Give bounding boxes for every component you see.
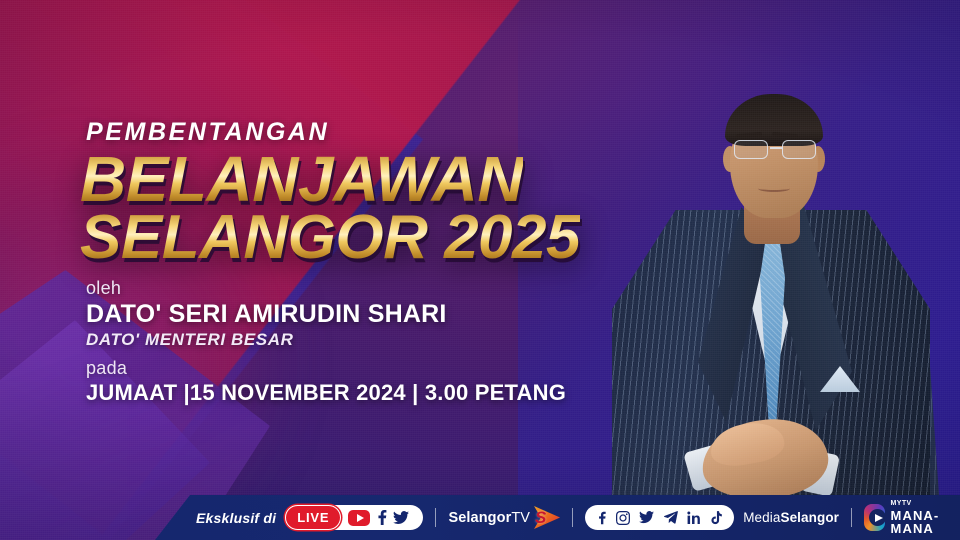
speaker-block: oleh DATO' SERI AMIRUDIN SHARI DATO' MEN… (86, 278, 447, 350)
speaker-name: DATO' SERI AMIRUDIN SHARI (86, 300, 447, 329)
title-line-2: SELANGOR 2025 (80, 202, 580, 273)
twitter-icon[interactable] (639, 511, 654, 524)
mediaselangor-logo[interactable]: MediaSelangor (743, 510, 839, 525)
mytv-small-text: MYTV (891, 500, 960, 507)
live-badge[interactable]: LIVE (285, 505, 341, 530)
selangortv-light: TV (511, 510, 530, 526)
facebook-icon[interactable] (597, 511, 607, 525)
poster-content: PEMBENTANGAN BELANJAWAN SELANGOR 2025 ol… (0, 0, 960, 540)
footer-divider-3 (851, 508, 852, 527)
when-label: pada (86, 358, 566, 379)
live-pill[interactable]: LIVE (285, 505, 423, 530)
selangortv-mark: S (534, 505, 560, 531)
instagram-icon[interactable] (616, 511, 630, 525)
schedule-block: pada JUMAAT |15 NOVEMBER 2024 | 3.00 PET… (86, 358, 566, 406)
footer-divider-1 (435, 508, 436, 527)
mediaselangor-bold: Selangor (780, 510, 839, 525)
facebook-icon[interactable] (376, 510, 388, 525)
selangortv-text: SelangorTV (448, 510, 530, 526)
mytv-play-icon (864, 504, 884, 531)
mediaselangor-light: Media (743, 510, 780, 525)
linkedin-icon[interactable] (687, 511, 701, 524)
by-label: oleh (86, 278, 447, 299)
twitter-icon[interactable] (393, 511, 409, 525)
social-links-pill[interactable] (585, 505, 734, 530)
mytv-big-text: MANA-MANA (891, 509, 960, 535)
selangortv-logo[interactable]: SelangorTV S (448, 505, 560, 531)
youtube-icon[interactable] (348, 510, 370, 526)
footer-divider-2 (572, 508, 573, 527)
speaker-title: DATO' MENTERI BESAR (86, 330, 447, 350)
selangortv-bold: Selangor (448, 510, 511, 526)
footer-content: Eksklusif di LIVE SelangorTV S (196, 495, 960, 540)
poster-canvas: PEMBENTANGAN BELANJAWAN SELANGOR 2025 ol… (0, 0, 960, 540)
mytv-text: MYTV MANA-MANA (891, 500, 960, 535)
exclusive-label: Eksklusif di (196, 510, 276, 526)
telegram-icon[interactable] (663, 511, 678, 524)
mytv-mana-mana-logo[interactable]: MYTV MANA-MANA (864, 500, 960, 535)
tiktok-icon[interactable] (710, 511, 722, 525)
selangortv-mark-letter: S (535, 508, 546, 528)
when-value: JUMAAT |15 NOVEMBER 2024 | 3.00 PETANG (86, 380, 566, 406)
